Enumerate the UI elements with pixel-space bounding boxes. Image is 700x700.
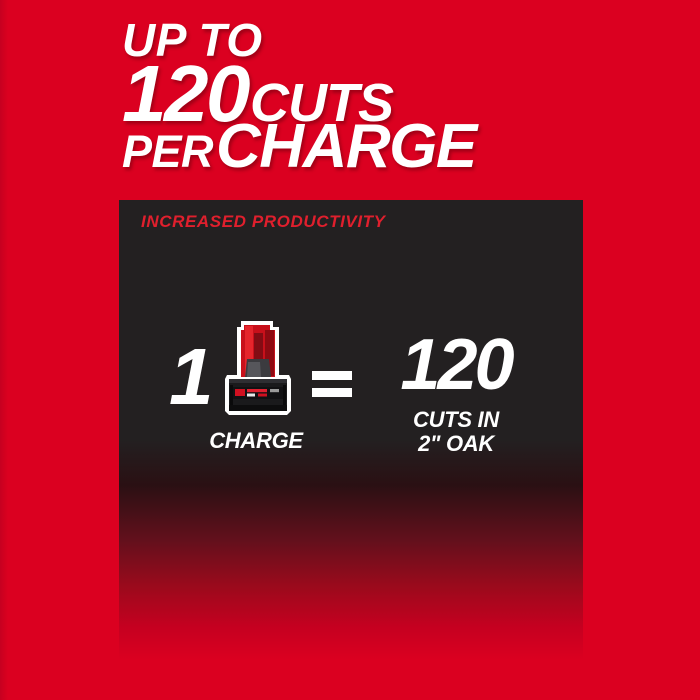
- headline-word-per: PER: [122, 126, 213, 177]
- cuts-label-line-2: 2" OAK: [366, 432, 546, 456]
- cuts-label-line-1: CUTS IN: [366, 408, 546, 432]
- charge-label: CHARGE: [161, 428, 351, 454]
- equals-sign-icon: [312, 371, 352, 399]
- equation-row: 1: [119, 325, 583, 485]
- charge-count-value: 1: [169, 337, 212, 417]
- promo-graphic: UP TO 120CUTS PERCHARGE INCREASED PRODUC…: [0, 0, 700, 700]
- cuts-count-value: 120: [366, 329, 546, 401]
- left-edge-band: [0, 0, 8, 700]
- m12-redlithium-battery-icon: [217, 319, 297, 429]
- equals-bar-top: [312, 371, 352, 380]
- cuts-label: CUTS IN 2" OAK: [366, 408, 546, 456]
- headline: UP TO 120CUTS PERCHARGE: [122, 22, 592, 173]
- productivity-panel: INCREASED PRODUCTIVITY 1: [119, 200, 583, 660]
- equation-right-side: 120 CUTS IN 2" OAK: [364, 325, 564, 485]
- headline-line-per-charge: PERCHARGE: [122, 122, 592, 173]
- panel-heading: INCREASED PRODUCTIVITY: [141, 212, 386, 232]
- equals-bar-bottom: [312, 388, 352, 397]
- equation-left-side: 1: [157, 325, 357, 485]
- headline-word-charge: CHARGE: [216, 112, 476, 181]
